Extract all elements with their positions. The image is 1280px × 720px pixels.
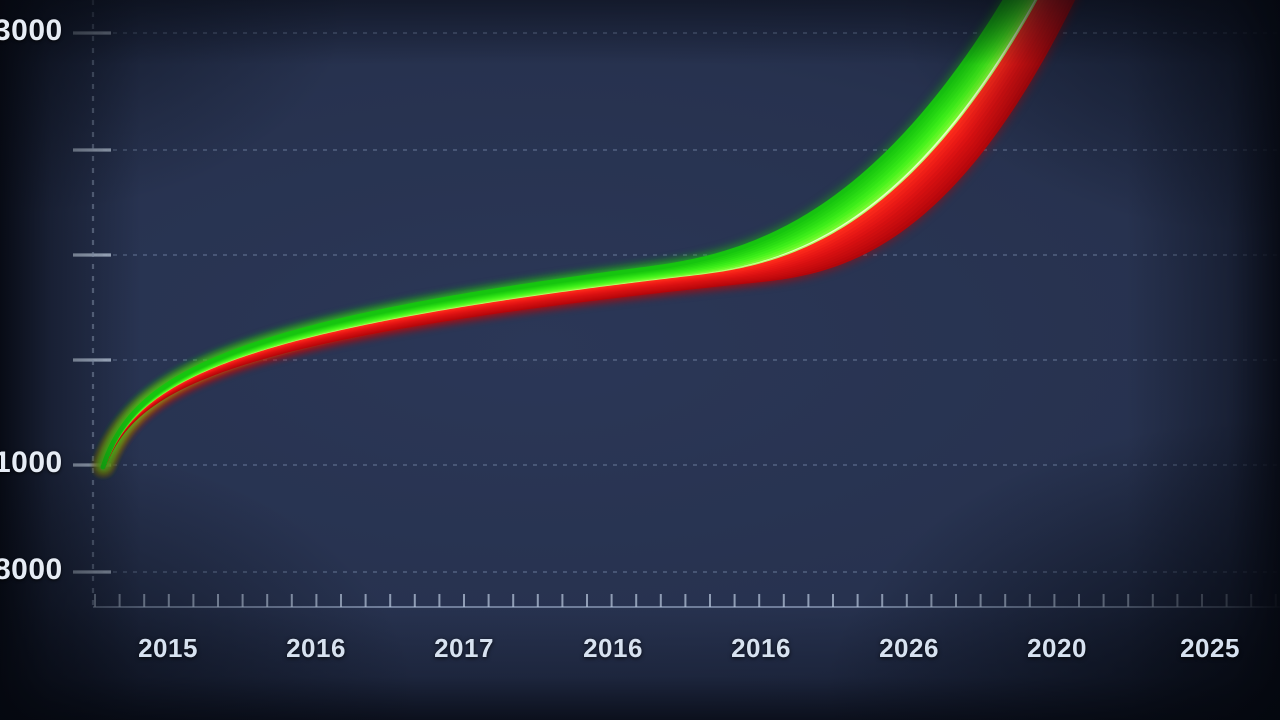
x-axis-label-6: 2020	[1027, 633, 1087, 664]
x-axis-label-1: 2016	[286, 633, 346, 664]
x-axis-label-2: 2017	[434, 633, 494, 664]
y-axis-label-0: 3000	[0, 14, 63, 48]
y-axis-label-1: 1000	[0, 446, 63, 480]
x-axis-label-3: 2016	[583, 633, 643, 664]
x-axis-label-0: 2015	[138, 633, 198, 664]
x-axis-label-7: 2025	[1180, 633, 1240, 664]
x-axis-label-5: 2026	[879, 633, 939, 664]
y-axis-label-2: 8000	[0, 553, 63, 587]
chart-corner-shadow-overlay	[0, 0, 1280, 720]
x-axis-label-4: 2016	[731, 633, 791, 664]
chart-screenshot: 300010008000 201520162017201620162026202…	[0, 0, 1280, 720]
